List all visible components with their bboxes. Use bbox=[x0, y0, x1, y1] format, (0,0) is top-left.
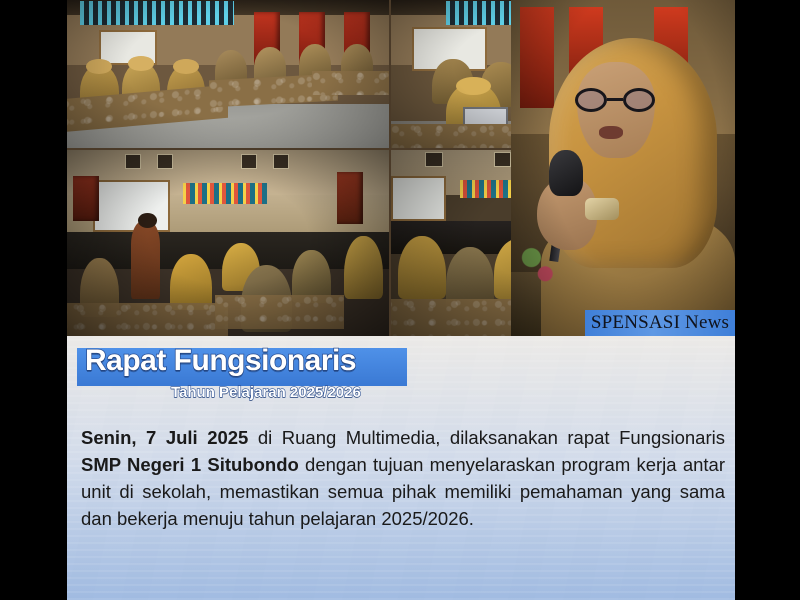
spensasi-news-badge: SPENSASI News bbox=[585, 310, 735, 336]
letterbox-bar-left bbox=[0, 0, 67, 600]
caption-school: SMP Negeri 1 Situbondo bbox=[81, 454, 299, 475]
collage-photo-speaker bbox=[511, 0, 735, 336]
collage-photo-top-left bbox=[67, 0, 389, 148]
photo-vignette bbox=[67, 150, 389, 336]
poster-root: SPENSASI News Rapat Fungsionaris Tahun P… bbox=[0, 0, 800, 600]
caption-part-2: di Ruang Multimedia, dilaksanakan rapat … bbox=[248, 427, 725, 448]
page-subtitle: Tahun Pelajaran 2025/2026 bbox=[171, 384, 361, 401]
news-badge-label: SPENSASI News bbox=[591, 312, 729, 334]
photo-vignette bbox=[67, 0, 389, 148]
collage-photo-bottom-left bbox=[67, 150, 389, 336]
poster-content: SPENSASI News Rapat Fungsionaris Tahun P… bbox=[67, 0, 735, 600]
photo-collage: SPENSASI News bbox=[67, 0, 735, 336]
photo-vignette bbox=[511, 0, 735, 336]
caption-date: Senin, 7 Juli 2025 bbox=[81, 427, 248, 448]
letterbox-bar-right bbox=[735, 0, 800, 600]
caption-panel: Rapat Fungsionaris Tahun Pelajaran 2025/… bbox=[67, 336, 735, 600]
caption-text: Senin, 7 Juli 2025 di Ruang Multimedia, … bbox=[81, 424, 725, 532]
page-title: Rapat Fungsionaris bbox=[85, 344, 356, 378]
